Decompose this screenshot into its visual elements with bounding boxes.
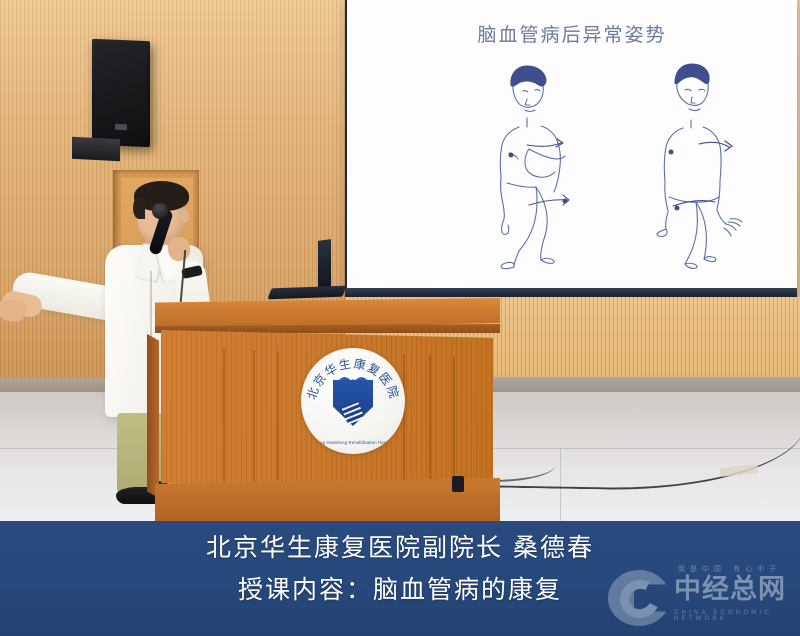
presenter-hair-side bbox=[133, 197, 145, 219]
podium-side-panel bbox=[147, 334, 159, 498]
presenter-ear bbox=[180, 209, 189, 223]
logo-c-mark-icon bbox=[608, 570, 670, 626]
projection-screen: 脑血管病后异常姿势 bbox=[347, 0, 797, 292]
watermark-brand: 中经总网 bbox=[674, 576, 786, 603]
screen-bottom-bar bbox=[345, 288, 797, 297]
hospital-emblem: 北京华生康复医院 Beijing Huasheng Rehabilitation… bbox=[301, 348, 405, 454]
abnormal-posture-figure-left bbox=[467, 55, 597, 270]
slide-title: 脑血管病后异常姿势 bbox=[347, 20, 797, 47]
caption-line-1: 北京华生康复医院副院长 桑德春 bbox=[0, 535, 800, 560]
podium-panel-line bbox=[277, 351, 279, 481]
speaker-badge bbox=[115, 124, 127, 131]
podium: 北京华生康复医院 Beijing Huasheng Rehabilitation… bbox=[155, 298, 500, 521]
screenshot-root: 脑血管病后异常姿势 bbox=[0, 0, 800, 636]
podium-panel-line bbox=[223, 348, 225, 482]
speaker-mount-bracket bbox=[72, 137, 120, 162]
emblem-subtext: Beijing Huasheng Rehabilitation Hospital bbox=[301, 441, 405, 445]
watermark-tagline-bottom: CHINA ECONOMIC NETWORK bbox=[674, 610, 792, 622]
laptop-lid bbox=[318, 239, 331, 293]
floor-object bbox=[452, 476, 464, 492]
podium-panel-line bbox=[253, 350, 255, 482]
podium-panel-line bbox=[453, 356, 455, 478]
podium-panel-line bbox=[429, 355, 431, 479]
abnormal-posture-figure-right bbox=[633, 52, 759, 270]
lecture-photo: 脑血管病后异常姿势 bbox=[0, 0, 800, 521]
podium-panel-line bbox=[403, 354, 405, 480]
wall-speaker-icon bbox=[92, 39, 150, 148]
watermark-tagline-top: 我是中国 有心中于 bbox=[678, 564, 781, 574]
watermark-logo: 我是中国 有心中于 中经总网 CHINA ECONOMIC NETWORK bbox=[604, 562, 792, 632]
podium-base bbox=[155, 478, 500, 521]
